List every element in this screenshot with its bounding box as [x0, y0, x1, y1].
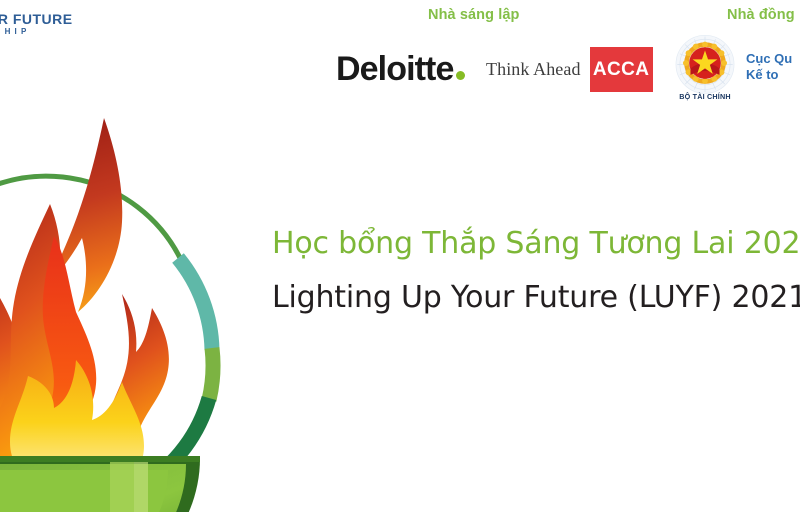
wordmark-line-scholarship: LARSHIP	[0, 28, 106, 36]
partner-caption: Nhà đồng	[727, 7, 795, 23]
banner-canvas: Your Future LARSHIP Nhà sáng lập Nhà đồn…	[0, 0, 800, 530]
vietnam-ministry-emblem-icon: BỘ TÀI CHÍNH	[672, 34, 738, 100]
acca-wordmark: ACCA	[593, 59, 650, 81]
deloitte-dot-icon	[456, 71, 465, 80]
title-block: Học bổng Thắp Sáng Tương Lai 2021 (M Lig…	[272, 225, 800, 318]
acca-logo: Think Ahead ACCA	[486, 47, 653, 92]
luyf-scholarship-wordmark: Your Future LARSHIP	[0, 12, 106, 46]
acca-tagline: Think Ahead	[486, 59, 581, 80]
mof-text-block: Cục Qu Kế to	[746, 51, 792, 83]
title-english: Lighting Up Your Future (LUYF) 2021 (G	[272, 279, 800, 317]
title-vietnamese: Học bổng Thắp Sáng Tương Lai 2021 (M	[272, 225, 800, 263]
acca-badge: ACCA	[590, 47, 653, 92]
mof-emblem-caption: BỘ TÀI CHÍNH	[672, 92, 738, 101]
mof-text-line-2: Kế to	[746, 67, 792, 83]
deloitte-wordmark: Deloitte	[336, 50, 453, 89]
founder-caption: Nhà sáng lập	[428, 7, 519, 23]
luyf-torch-emblem-icon	[0, 112, 282, 512]
deloitte-logo: Deloitte	[336, 50, 465, 89]
ministry-of-finance-logo: BỘ TÀI CHÍNH Cục Qu Kế to	[672, 34, 792, 100]
mof-text-line-1: Cục Qu	[746, 51, 792, 67]
wordmark-line-your-future: Your Future	[0, 12, 106, 26]
